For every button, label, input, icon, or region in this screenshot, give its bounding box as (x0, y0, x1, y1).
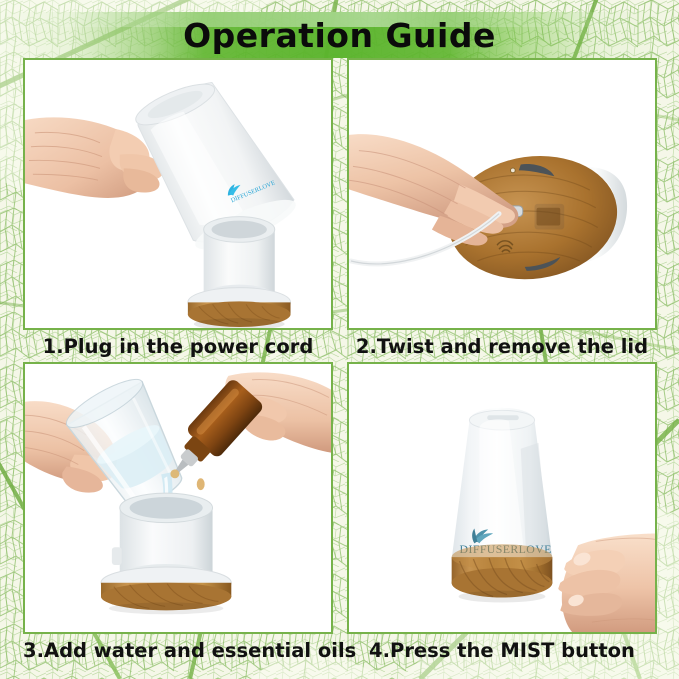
step-panel-2 (347, 58, 657, 330)
step-panel-4: DIFFUSERLOVE (347, 362, 657, 634)
step-caption-4: 4.Press the MIST button (347, 637, 657, 665)
mist-outlet (487, 415, 519, 420)
step-caption-2: 2.Twist and remove the lid (347, 333, 657, 361)
step-caption-3: 3.Add water and essential oils (23, 637, 333, 665)
page-title: Operation Guide (0, 12, 679, 58)
scene-hand-plugging-power-cord (349, 60, 655, 328)
oil-drop-graphic (197, 478, 205, 490)
scene-assembled-diffuser: DIFFUSERLOVE (349, 364, 655, 632)
step-panel-1: DIFFUSERLOVE (23, 58, 333, 330)
wooden-base-graphic (452, 544, 553, 602)
scene-hand-holding-diffuser-cover: DIFFUSERLOVE (25, 60, 331, 328)
operation-guide-page: Operation Guide (0, 0, 679, 679)
scene-pouring-water-and-oil (25, 364, 331, 632)
step-caption-1: 1.Plug in the power cord (23, 333, 333, 361)
step-panel-3 (23, 362, 333, 634)
water-tank-and-base-graphic (101, 493, 231, 614)
